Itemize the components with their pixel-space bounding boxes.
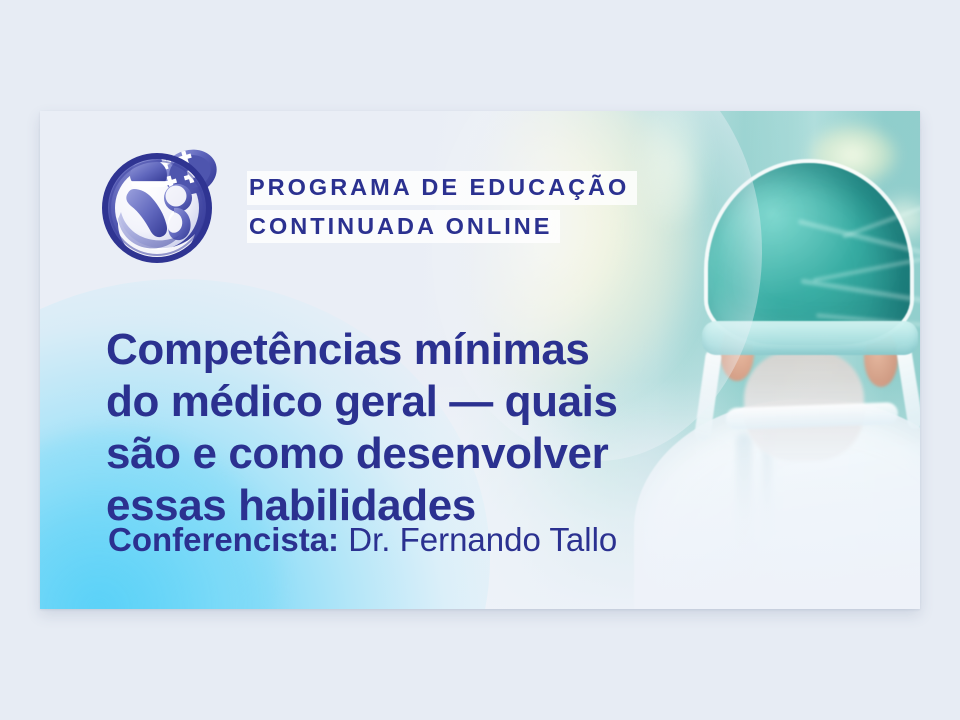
pediatric-care-circle-logo-icon [102, 142, 220, 264]
headline-line-2: do médico geral — quais [106, 376, 716, 428]
brand-row: PROGRAMA DE EDUCAÇÃO CONTINUADA ONLINE [102, 142, 637, 264]
kicker-line-1: PROGRAMA DE EDUCAÇÃO [247, 171, 637, 205]
program-kicker: PROGRAMA DE EDUCAÇÃO CONTINUADA ONLINE [247, 163, 637, 243]
webinar-banner-card: PROGRAMA DE EDUCAÇÃO CONTINUADA ONLINE C… [40, 111, 920, 609]
banner-stage: PROGRAMA DE EDUCAÇÃO CONTINUADA ONLINE C… [0, 0, 960, 720]
headline-line-1: Competências mínimas [106, 324, 716, 376]
kicker-line-2: CONTINUADA ONLINE [247, 210, 560, 244]
speaker-label: Conferencista: [108, 521, 339, 558]
speaker-line: Conferencista: Dr. Fernando Tallo [108, 520, 617, 560]
speaker-name: Dr. Fernando Tallo [348, 521, 617, 558]
banner-content: PROGRAMA DE EDUCAÇÃO CONTINUADA ONLINE C… [40, 111, 920, 609]
headline-line-3: são e como desenvolver [106, 428, 716, 480]
banner-headline: Competências mínimas do médico geral — q… [106, 324, 716, 531]
